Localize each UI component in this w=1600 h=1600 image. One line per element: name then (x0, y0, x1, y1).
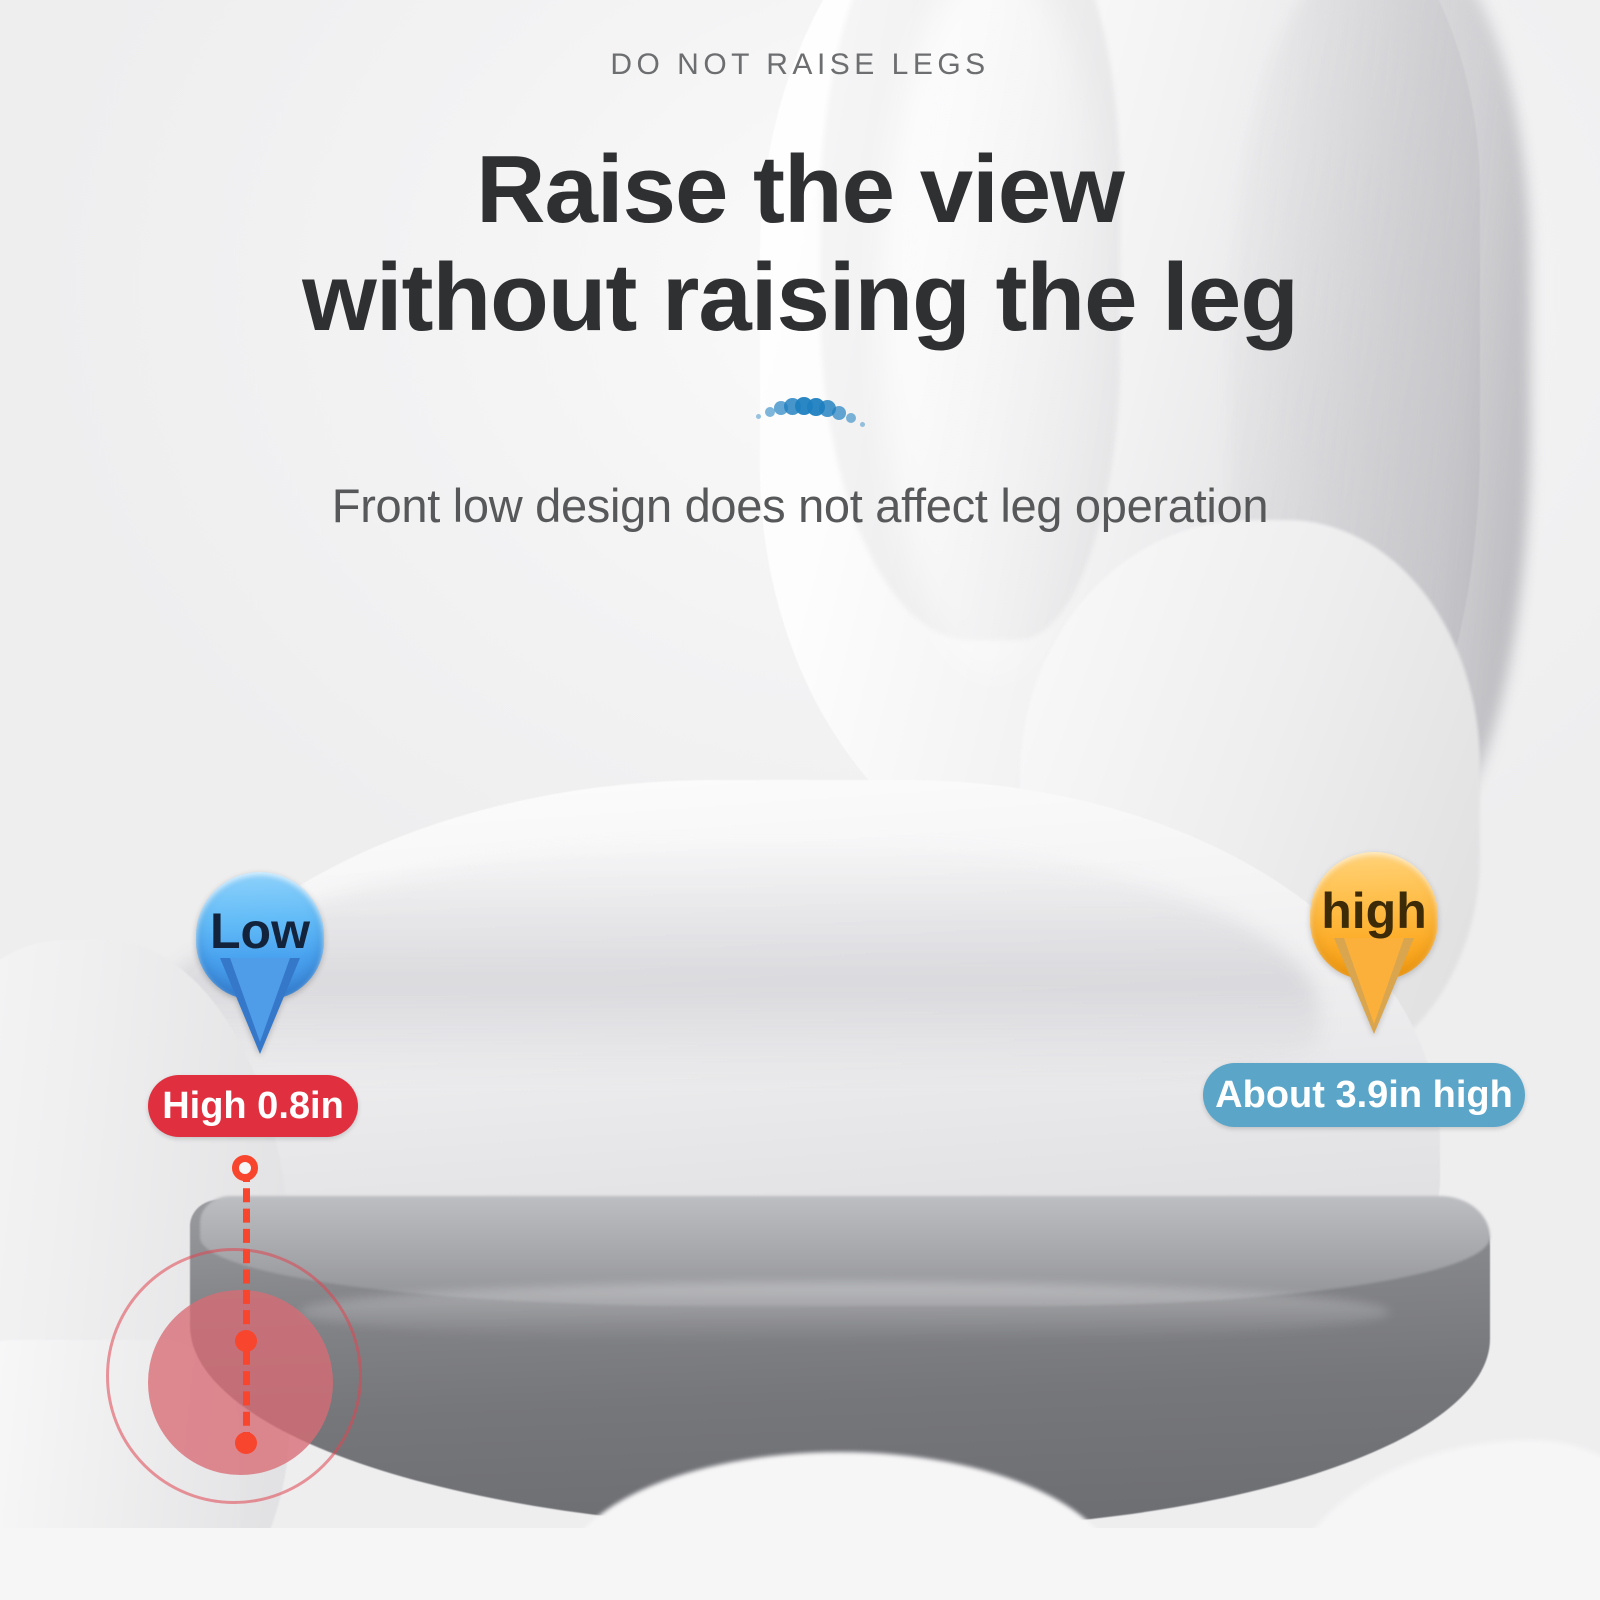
measure-endpoint-ring-icon (232, 1155, 258, 1181)
page-title: Raise the view without raising the leg (0, 136, 1600, 351)
pin-low: Low (196, 872, 324, 1050)
dot-arc-item (832, 406, 846, 420)
pin-high-label: high (1310, 852, 1438, 970)
seat-cushion-seam (300, 1282, 1390, 1342)
measure-dashed-line (243, 1168, 250, 1446)
dot-arc-item (860, 422, 865, 427)
subtitle-text: Front low design does not affect leg ope… (0, 478, 1600, 533)
measure-point-upper-icon (235, 1330, 257, 1352)
product-infographic: DO NOT RAISE LEGS Raise the view without… (0, 0, 1600, 1600)
dot-arc-item (846, 413, 856, 423)
floor-backdrop (0, 1528, 1600, 1600)
measure-point-lower-icon (235, 1432, 257, 1454)
decorative-dot-arc (752, 386, 872, 428)
pin-low-label: Low (196, 872, 324, 990)
callout-front-height: High 0.8in (148, 1075, 358, 1137)
callout-rear-height: About 3.9in high (1203, 1063, 1525, 1127)
eyebrow-text: DO NOT RAISE LEGS (0, 48, 1600, 82)
pin-high: high (1310, 852, 1438, 1030)
dot-arc-item (756, 414, 761, 419)
